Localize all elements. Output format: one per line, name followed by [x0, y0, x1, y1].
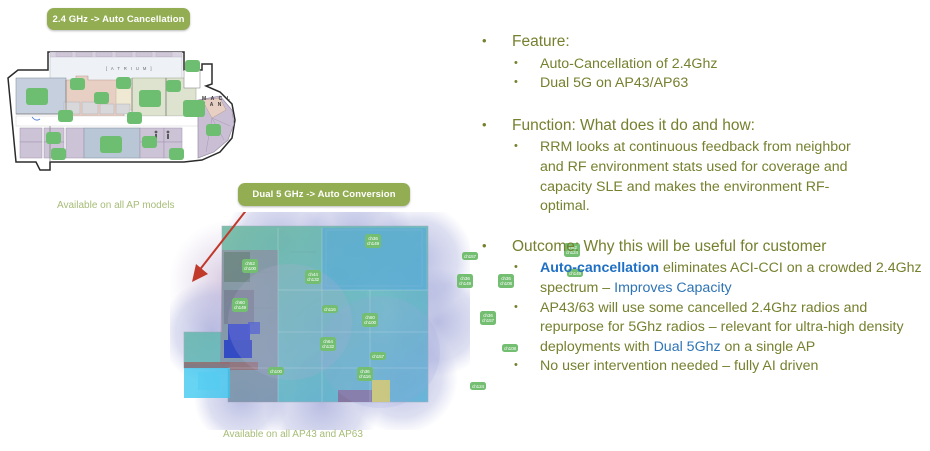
spacer — [482, 217, 930, 237]
bullet-l2-text: Auto-Cancellation of 2.4Ghz — [540, 55, 930, 75]
bullet-l2-text: RRM looks at continuous feedback from ne… — [540, 138, 872, 216]
bullet-l1-outcome: • Outcome: Why this will be useful for c… — [482, 237, 930, 258]
bullet-block-function: • Function: What does it do and how: • R… — [482, 116, 930, 217]
channel-chip[interactable]: ch36ch149 — [457, 274, 473, 288]
bullet-l2-rrm: • RRM looks at continuous feedback from … — [514, 138, 930, 216]
ap-marker[interactable] — [26, 88, 48, 105]
bullet-glyph-icon: • — [514, 357, 540, 377]
bullet-content-column: • Feature: • Auto-Cancellation of 2.4Ghz… — [482, 32, 930, 377]
bullet-glyph-icon: • — [514, 299, 540, 358]
bullet-l2-no-intervention: • No user intervention needed – fully AI… — [514, 357, 930, 377]
bullet-glyph-icon: • — [482, 32, 512, 53]
ap-marker[interactable] — [94, 92, 109, 104]
spacer — [482, 94, 930, 116]
floorplan-image: [ A T R I U M ] M A C L E A N — [6, 40, 238, 188]
channel-chip[interactable]: ch60ch100 — [362, 313, 378, 327]
floorplan-atrium-label: [ A T R I U M ] — [106, 66, 153, 71]
ap-marker[interactable] — [127, 112, 142, 124]
slide-canvas: [ A T R I U M ] M A C L E A N — [0, 0, 930, 451]
heatmap-image: ch36ch149 ch52ch124 ch157 ch52ch100 ch44… — [170, 212, 470, 430]
bullet-l2-text: Dual 5G on AP43/AP63 — [540, 74, 930, 94]
channel-chip[interactable]: ch157 — [370, 352, 386, 360]
bullet-block-feature: • Feature: • Auto-Cancellation of 2.4Ghz… — [482, 32, 930, 94]
bullet-glyph-icon: • — [514, 55, 540, 75]
bullet-block-outcome: • Outcome: Why this will be useful for c… — [482, 237, 930, 377]
ap-marker[interactable] — [70, 78, 85, 90]
channel-chip[interactable]: ch36ch149 — [365, 234, 381, 248]
ap-marker[interactable] — [206, 124, 221, 136]
bullet-glyph-icon: • — [514, 259, 540, 298]
callout-badge-dual5ghz[interactable]: Dual 5 GHz -> Auto Conversion — [238, 183, 410, 206]
channel-chip[interactable]: ch52ch100 — [242, 259, 258, 273]
bullet-l2-text: No user intervention needed – fully AI d… — [540, 357, 930, 377]
ap-marker[interactable] — [116, 77, 131, 89]
ap-marker[interactable] — [169, 148, 184, 160]
channel-chip[interactable]: ch60ch149 — [232, 298, 248, 312]
visuals-column: [ A T R I U M ] M A C L E A N — [0, 0, 470, 451]
heatmap-vector — [170, 212, 470, 430]
ap-marker[interactable] — [51, 148, 66, 160]
channel-chip[interactable]: ch44ch132 — [305, 270, 321, 284]
channel-chip[interactable]: ch64ch132 — [320, 337, 336, 351]
callout-badge-24ghz[interactable]: 2.4 GHz -> Auto Cancellation — [47, 8, 190, 30]
ap-marker[interactable] — [46, 132, 61, 144]
ap-marker[interactable] — [185, 60, 200, 72]
bullet-glyph-icon: • — [482, 237, 512, 258]
bullet-glyph-icon: • — [482, 116, 512, 137]
bullet-l2-rich-text: Auto-cancellation eliminates ACI-CCI on … — [540, 259, 930, 298]
bullet-l2-auto-cancellation: • Auto-Cancellation of 2.4Ghz — [514, 55, 930, 75]
bullet-l2-rich-text: AP43/63 will use some cancelled 2.4Ghz r… — [540, 299, 930, 358]
ap-marker[interactable] — [183, 100, 205, 117]
ap-marker[interactable] — [100, 136, 122, 153]
channel-chip[interactable]: ch100 — [268, 367, 284, 375]
bullet-l2-ap4363-repurpose: • AP43/63 will use some cancelled 2.4Ghz… — [514, 299, 930, 358]
bullet-l1-feature: • Feature: — [482, 32, 930, 53]
ap-marker[interactable] — [139, 90, 161, 107]
floorplan-maclean-label: M A C L E A N — [202, 96, 238, 108]
ap-marker[interactable] — [58, 110, 73, 122]
bullet-l1-text: Outcome: Why this will be useful for cus… — [512, 237, 826, 258]
bullet-glyph-icon: • — [514, 138, 540, 216]
bullet-l1-text: Function: What does it do and how: — [512, 116, 755, 137]
bullet-l1-function: • Function: What does it do and how: — [482, 116, 930, 137]
ap-marker[interactable] — [166, 80, 181, 92]
ap-marker[interactable] — [142, 136, 157, 148]
bullet-l1-text: Feature: — [512, 32, 570, 53]
channel-chip[interactable]: ch116 — [322, 305, 338, 313]
channel-chip[interactable]: ch124 — [470, 382, 486, 390]
channel-chip[interactable]: ch36ch116 — [357, 367, 373, 381]
caption-heatmap: Available on all AP43 and AP63 — [223, 429, 363, 440]
caption-floorplan: Available on all AP models — [57, 200, 175, 211]
channel-chip[interactable]: ch157 — [462, 252, 478, 260]
bullet-glyph-icon: • — [514, 74, 540, 94]
bullet-l2-dual-5g: • Dual 5G on AP43/AP63 — [514, 74, 930, 94]
bullet-l2-auto-cancellation-benefit: • Auto-cancellation eliminates ACI-CCI o… — [514, 259, 930, 298]
